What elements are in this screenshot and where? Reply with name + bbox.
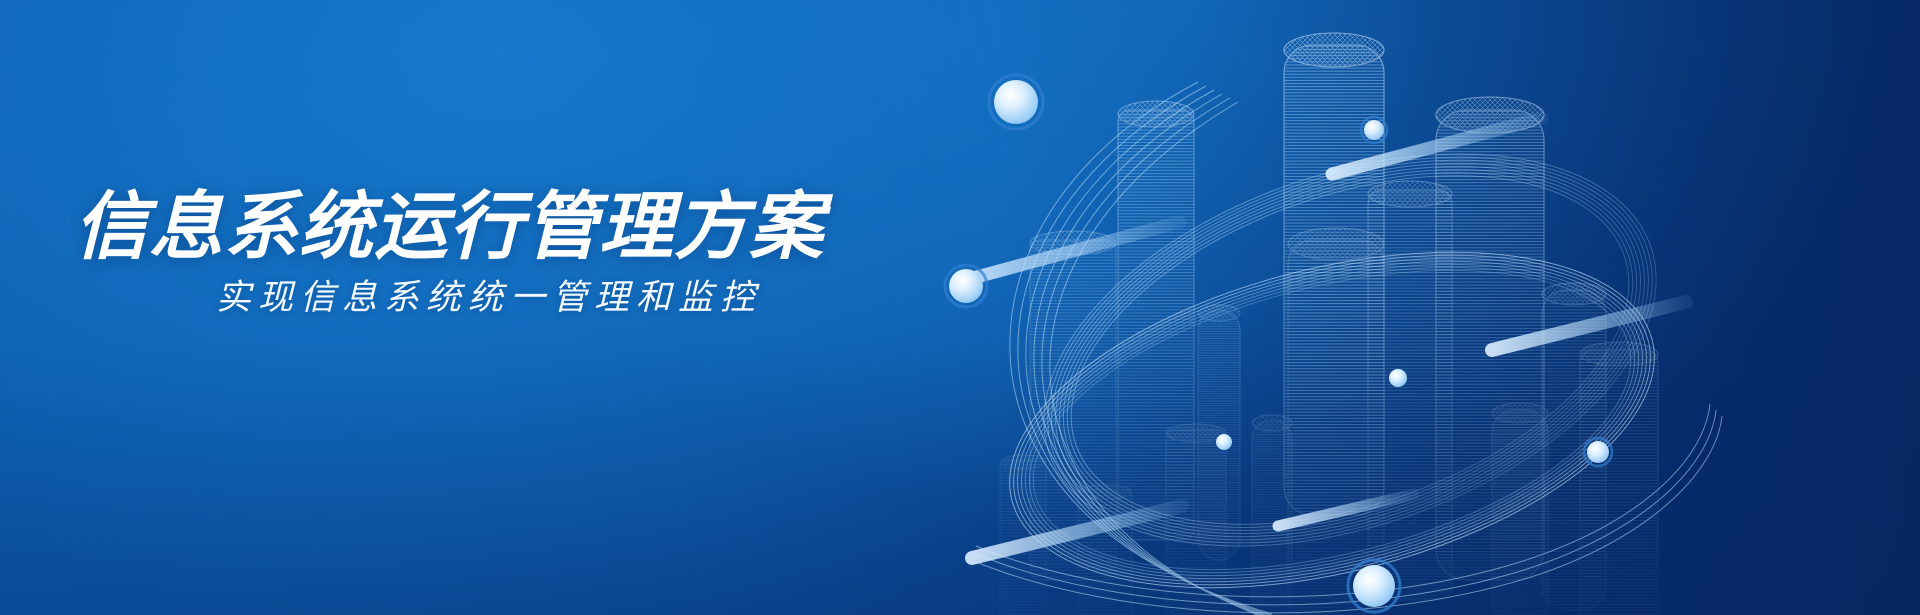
page-title: 信息系统运行管理方案 <box>74 186 824 269</box>
glow-dot <box>1216 434 1232 450</box>
tower <box>1492 403 1548 615</box>
glow-dot <box>1584 438 1612 466</box>
banner-stage: 信息系统运行管理方案 实现信息系统统一管理和监控 <box>0 0 1920 615</box>
city-svg <box>880 0 1920 615</box>
glow-dot <box>1348 560 1400 612</box>
glow-dot <box>1361 117 1387 143</box>
glow-dot <box>1389 369 1407 387</box>
page-subtitle: 实现信息系统统一管理和监控 <box>74 277 904 319</box>
headline-block: 信息系统运行管理方案 实现信息系统统一管理和监控 <box>0 0 1000 615</box>
wireframe-city-illustration <box>880 0 1920 615</box>
